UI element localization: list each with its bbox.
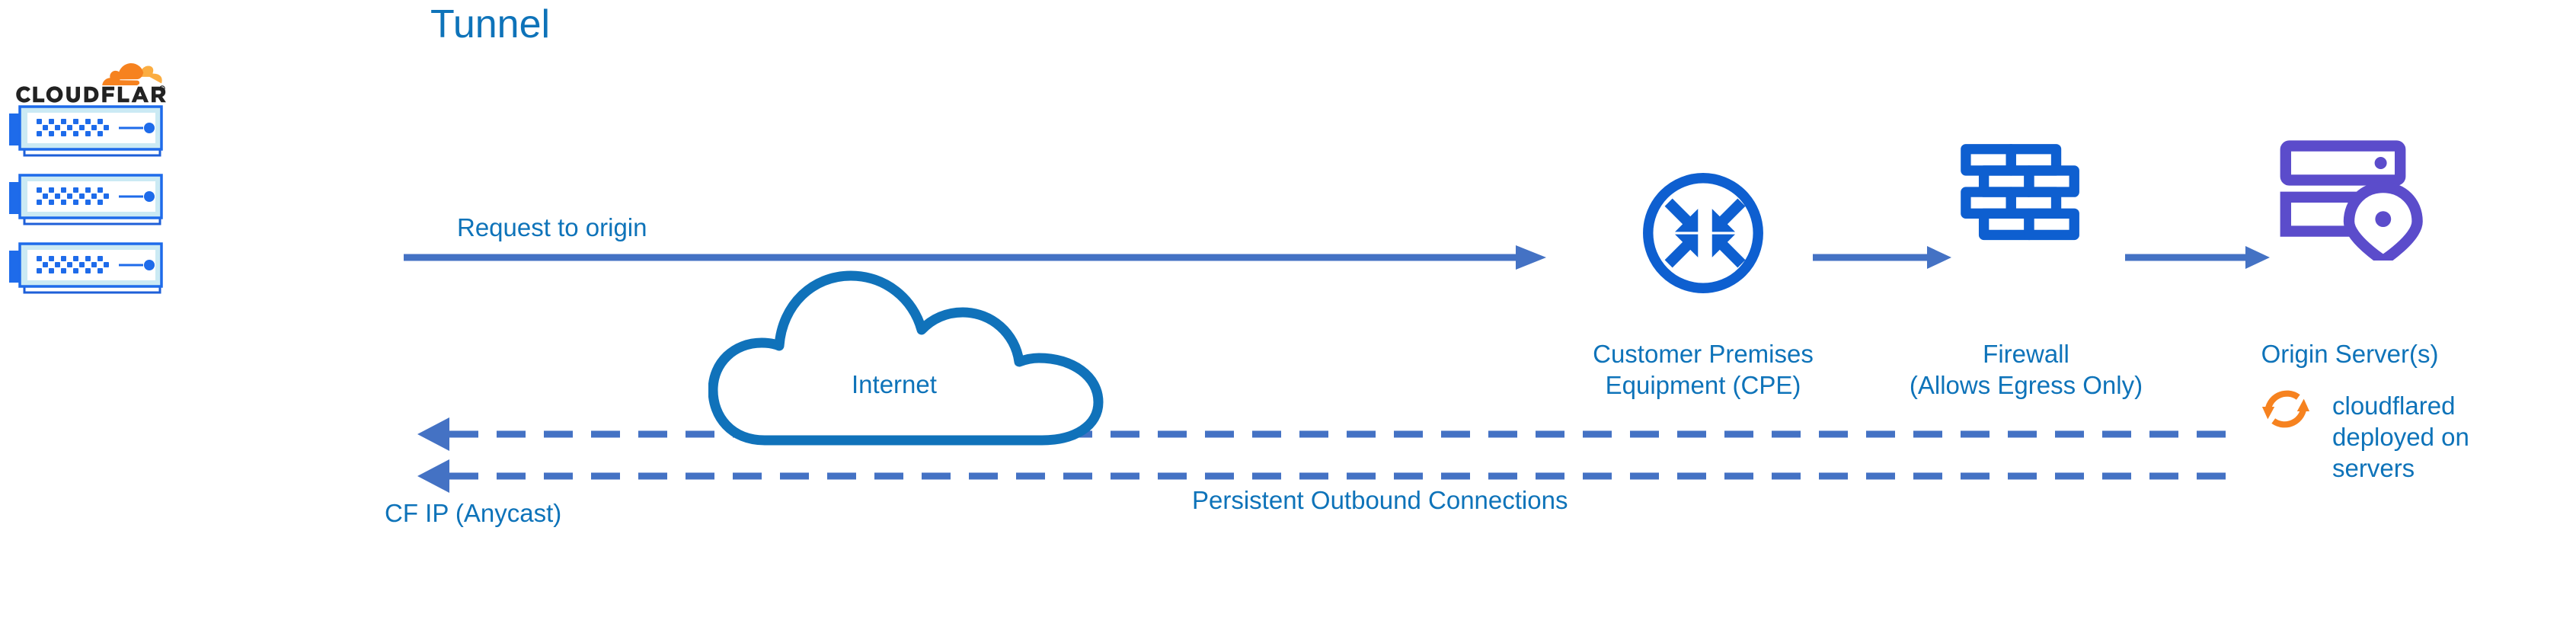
persistent-outbound-label: Persistent Outbound Connections xyxy=(1192,486,1568,515)
arrow-cpe-to-firewall xyxy=(1813,246,1951,269)
cloudflare-server-3 xyxy=(6,241,168,305)
cloudflare-cloud-mark xyxy=(82,46,165,85)
dashed-connection-upper xyxy=(417,417,2243,451)
circular-arrows-sync-icon xyxy=(2258,381,2314,437)
four-arrows-circle-icon xyxy=(1639,169,1767,297)
cloudflare-server-1 xyxy=(6,104,168,168)
request-to-origin-label: Request to origin xyxy=(457,213,647,242)
page-title: Tunnel xyxy=(430,2,550,47)
svg-text:R: R xyxy=(161,87,164,91)
firewall-label: Firewall (Allows Egress Only) xyxy=(1881,338,2171,401)
cf-ip-anycast-label: CF IP (Anycast) xyxy=(385,497,561,530)
arrow-firewall-to-origin xyxy=(2125,246,2270,269)
cloudflared-label: cloudflared deployed on servers xyxy=(2332,390,2546,484)
origin-server-label: Origin Server(s) xyxy=(2201,338,2498,369)
cloud-outline-icon xyxy=(708,229,1135,457)
cpe-label: Customer Premises Equipment (CPE) xyxy=(1543,338,1863,401)
tunnel-diagram: Tunnel R xyxy=(0,0,2576,617)
cloudflare-logo: R xyxy=(14,46,166,110)
internet-label: Internet xyxy=(852,370,937,399)
brick-wall-icon xyxy=(1959,142,2090,256)
server-location-pin-icon xyxy=(2274,139,2424,261)
cloudflare-server-2 xyxy=(6,172,168,236)
